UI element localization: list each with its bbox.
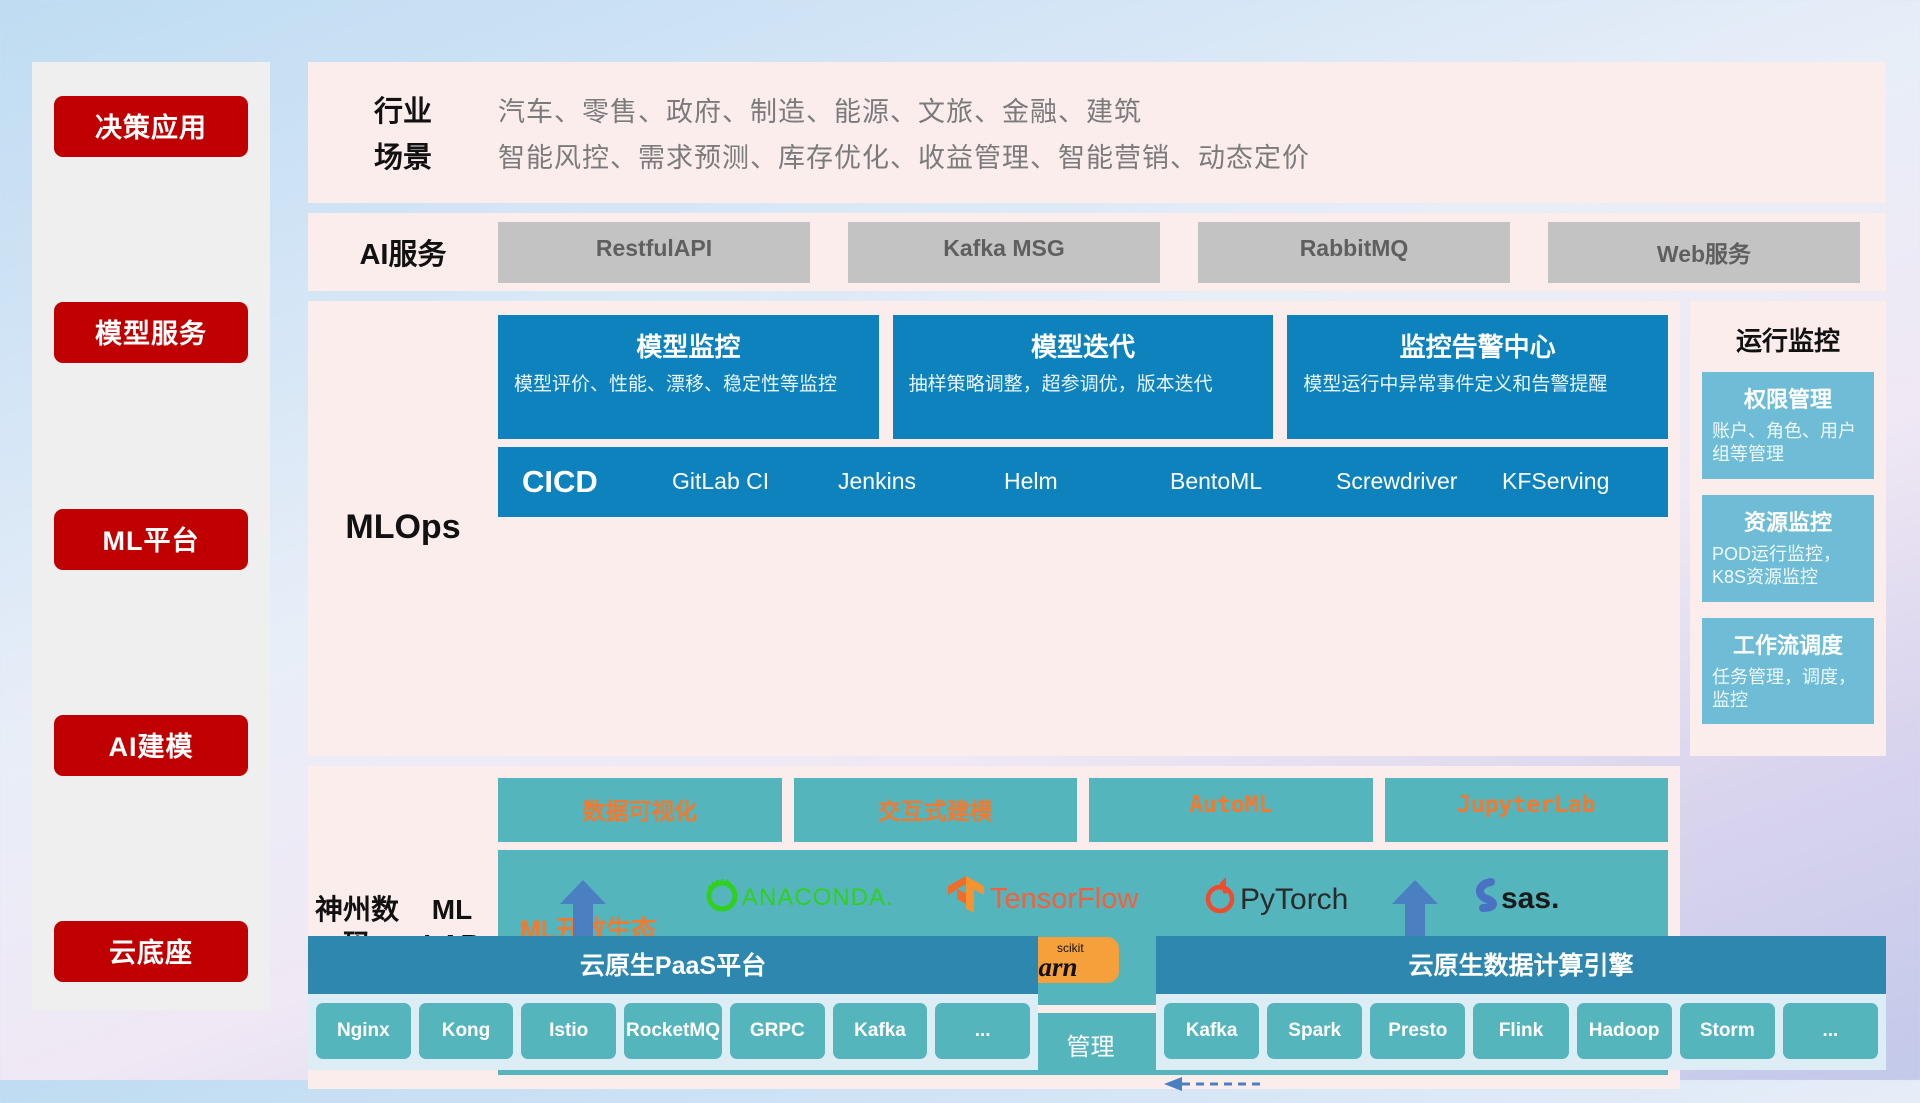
card-title: 模型迭代 [909,327,1258,364]
cloud-chip-more-engine[interactable]: ... [1783,1003,1878,1059]
arrow-up-paas-icon [560,880,606,936]
mlops-content: 模型监控 模型评价、性能、漂移、稳定性等监控 模型迭代 抽样策略调整，超参调优，… [498,315,1668,740]
cloud-chip-flink[interactable]: Flink [1473,1003,1568,1059]
rail-spacer [32,157,270,302]
cicd-item-helm[interactable]: Helm [1004,469,1170,494]
decision-app-band: 行业 汽车、零售、政府、制造、能源、文旅、金融、建筑 场景 智能风控、需求预测、… [308,62,1886,203]
app-rows: 行业 汽车、零售、政府、制造、能源、文旅、金融、建筑 场景 智能风控、需求预测、… [308,86,1886,177]
layer-rail: 决策应用 模型服务 ML平台 AI建模 云底座 [32,62,270,1010]
layer-chip-decision-app[interactable]: 决策应用 [54,96,248,157]
cloud-chip-presto[interactable]: Presto [1370,1003,1465,1059]
layer-chip-cloud-base[interactable]: 云底座 [54,921,248,982]
cicd-item-kfserving[interactable]: KFServing [1502,469,1668,494]
ml-lab-tools: 数据可视化 交互式建模 AutoML JupyterLab [498,778,1668,842]
cloud-paas-title: 云原生PaaS平台 [308,936,1038,994]
cloud-base-zone: 云原生PaaS平台 Nginx Kong Istio RocketMQ GRPC… [308,880,1886,1070]
runtime-monitor-title: 运行监控 [1702,315,1874,372]
ai-service-band: AI服务 RestfulAPI Kafka MSG RabbitMQ Web服务 [308,213,1886,291]
cloud-chip-rocketmq[interactable]: RocketMQ [624,1003,722,1059]
card-desc: POD运行监控，K8S资源监控 [1712,543,1864,590]
mlops-label: MLOps [308,315,498,740]
card-desc: 模型评价、性能、漂移、稳定性等监控 [514,372,863,397]
mlops-card-model-monitoring[interactable]: 模型监控 模型评价、性能、漂移、稳定性等监控 [498,315,879,439]
cloud-paas-chips: Nginx Kong Istio RocketMQ GRPC Kafka ... [308,994,1038,1070]
card-title: 监控告警中心 [1303,327,1652,364]
lab-tool-automl[interactable]: AutoML [1089,778,1373,842]
ai-service-chip-rabbitmq[interactable]: RabbitMQ [1198,222,1510,283]
cloud-engine-title: 云原生数据计算引擎 [1156,936,1886,994]
cloud-chip-nginx[interactable]: Nginx [316,1003,411,1059]
cloud-engine-chips: Kafka Spark Presto Flink Hadoop Storm ..… [1156,994,1886,1070]
cloud-chip-kafka[interactable]: Kafka [833,1003,928,1059]
rail-spacer [32,776,270,921]
mlops-cards: 模型监控 模型评价、性能、漂移、稳定性等监控 模型迭代 抽样策略调整，超参调优，… [498,315,1668,439]
cloud-chip-kong[interactable]: Kong [419,1003,514,1059]
monitor-card-resource[interactable]: 资源监控 POD运行监控，K8S资源监控 [1702,495,1874,602]
card-desc: 抽样策略调整，超参调优，版本迭代 [909,372,1258,397]
cloud-engine-group: 云原生数据计算引擎 Kafka Spark Presto Flink Hadoo… [1156,936,1886,1070]
app-row-scenario: 场景 智能风控、需求预测、库存优化、收益管理、智能营销、动态定价 [308,132,1886,178]
app-row-industry: 行业 汽车、零售、政府、制造、能源、文旅、金融、建筑 [308,86,1886,132]
ai-service-chip-kafka-msg[interactable]: Kafka MSG [848,222,1160,283]
cicd-bar: CICD GitLab CI Jenkins Helm BentoML Scre… [498,447,1668,517]
card-desc: 模型运行中异常事件定义和告警提醒 [1303,372,1652,397]
cicd-item-screwdriver[interactable]: Screwdriver [1336,469,1502,494]
cloud-chip-grpc[interactable]: GRPC [730,1003,825,1059]
cloud-chip-more[interactable]: ... [935,1003,1030,1059]
card-desc: 账户、角色、用户组等管理 [1712,420,1864,467]
cloud-chip-spark[interactable]: Spark [1267,1003,1362,1059]
card-title: 模型监控 [514,327,863,364]
ml-platform-row: MLOps 模型监控 模型评价、性能、漂移、稳定性等监控 模型迭代 抽样策略调整… [308,301,1886,756]
cicd-item-gitlab-ci[interactable]: GitLab CI [672,469,838,494]
cloud-chip-kafka-engine[interactable]: Kafka [1164,1003,1259,1059]
ai-service-label: AI服务 [308,231,498,273]
cloud-chip-storm[interactable]: Storm [1680,1003,1775,1059]
ai-service-chip-web-service[interactable]: Web服务 [1548,222,1860,283]
cloud-chip-istio[interactable]: Istio [521,1003,616,1059]
ai-service-items: RestfulAPI Kafka MSG RabbitMQ Web服务 [498,222,1868,283]
industry-label: 行业 [308,88,498,130]
card-title: 工作流调度 [1712,628,1864,660]
cloud-paas-group: 云原生PaaS平台 Nginx Kong Istio RocketMQ GRPC… [308,936,1038,1070]
mlops-card-model-iteration[interactable]: 模型迭代 抽样策略调整，超参调优，版本迭代 [893,315,1274,439]
monitor-card-permission[interactable]: 权限管理 账户、角色、用户组等管理 [1702,372,1874,479]
layer-chip-model-service[interactable]: 模型服务 [54,302,248,363]
layer-chip-ai-modeling[interactable]: AI建模 [54,715,248,776]
mlops-card-alert-center[interactable]: 监控告警中心 模型运行中异常事件定义和告警提醒 [1287,315,1668,439]
lab-tool-jupyterlab[interactable]: JupyterLab [1385,778,1669,842]
cicd-items: GitLab CI Jenkins Helm BentoML Screwdriv… [672,469,1668,494]
industry-values: 汽车、零售、政府、制造、能源、文旅、金融、建筑 [498,90,1142,129]
scenario-values: 智能风控、需求预测、库存优化、收益管理、智能营销、动态定价 [498,136,1310,175]
mlops-band: MLOps 模型监控 模型评价、性能、漂移、稳定性等监控 模型迭代 抽样策略调整… [308,301,1680,756]
cicd-item-jenkins[interactable]: Jenkins [838,469,1004,494]
cicd-item-bentoml[interactable]: BentoML [1170,469,1336,494]
layer-chip-ml-platform[interactable]: ML平台 [54,509,248,570]
card-desc: 任务管理，调度，监控 [1712,666,1864,713]
lab-tool-data-visualization[interactable]: 数据可视化 [498,778,782,842]
cloud-chip-hadoop[interactable]: Hadoop [1577,1003,1672,1059]
arrow-up-engine-icon [1392,880,1438,936]
runtime-monitor-band: 运行监控 权限管理 账户、角色、用户组等管理 资源监控 POD运行监控，K8S资… [1690,301,1886,756]
scenario-label: 场景 [308,134,498,176]
card-title: 权限管理 [1712,382,1864,414]
rail-spacer [32,570,270,715]
card-title: 资源监控 [1712,505,1864,537]
ai-service-chip-restfulapi[interactable]: RestfulAPI [498,222,810,283]
lab-tool-interactive-modeling[interactable]: 交互式建模 [794,778,1078,842]
cicd-title: CICD [522,464,672,500]
monitor-card-workflow[interactable]: 工作流调度 任务管理，调度，监控 [1702,618,1874,725]
rail-spacer [32,363,270,508]
